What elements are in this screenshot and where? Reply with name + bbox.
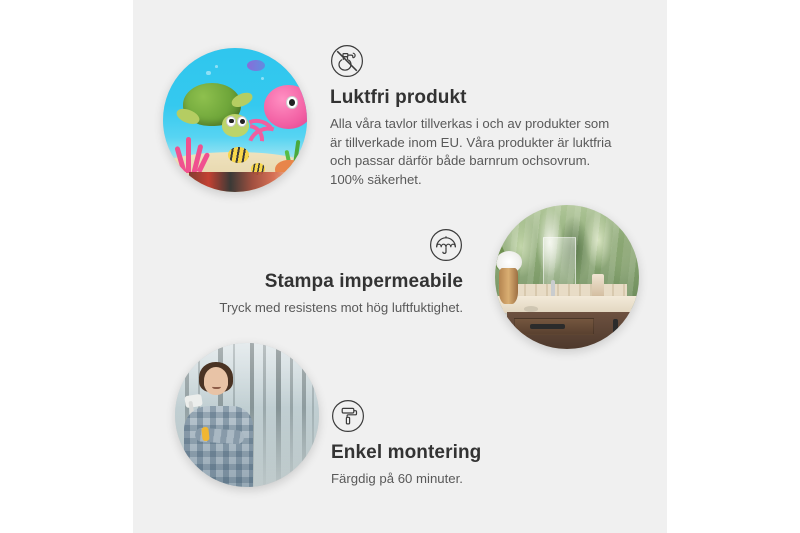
purple-fish	[247, 60, 266, 72]
drawer-handle	[530, 324, 564, 329]
feature-body: Tryck med resistens mot hög luftfuktighe…	[205, 299, 463, 318]
vanity-cabinet	[507, 312, 639, 349]
feature-easy-mounting: Enkel montering Färgdig på 60 minuter.	[331, 399, 591, 489]
vase	[499, 268, 518, 304]
woman-smile	[212, 383, 221, 389]
paint-roller-head	[184, 394, 203, 408]
feature-body: Färgdig på 60 minuter.	[331, 470, 591, 489]
paint-roller-icon	[331, 399, 365, 433]
bubble	[215, 65, 218, 68]
bubble	[261, 77, 264, 80]
feature-title: Stampa impermeabile	[205, 271, 463, 294]
feature-image-waterproof	[495, 205, 639, 349]
coral	[175, 136, 212, 173]
woman-torso	[184, 406, 253, 487]
feature-image-odourless	[163, 48, 307, 192]
underwater-scene	[163, 48, 307, 192]
screenshot-root: Luktfri produkt Alla våra tavlor tillver…	[0, 0, 800, 533]
feature-image-easy-mounting	[175, 343, 319, 487]
faucet	[551, 280, 555, 297]
feature-title: Enkel montering	[331, 442, 591, 465]
forest-scene	[175, 343, 319, 487]
photo-strip-overlay	[189, 172, 298, 192]
umbrella-icon	[429, 228, 463, 262]
octopus-head	[264, 85, 307, 128]
bathroom-scene	[495, 205, 639, 349]
cabinet-handle	[613, 319, 618, 338]
feature-title: Luktfri produkt	[330, 87, 620, 110]
bubble	[206, 71, 210, 75]
mirror	[543, 237, 577, 288]
feature-waterproof: Stampa impermeabile Tryck med resistens …	[205, 228, 463, 318]
feature-odourless: Luktfri produkt Alla våra tavlor tillver…	[330, 44, 620, 190]
woman-face	[204, 367, 228, 394]
no-spray-bottle-icon	[330, 44, 364, 78]
feature-body: Alla våra tavlor tillverkas i och av pro…	[330, 115, 620, 190]
